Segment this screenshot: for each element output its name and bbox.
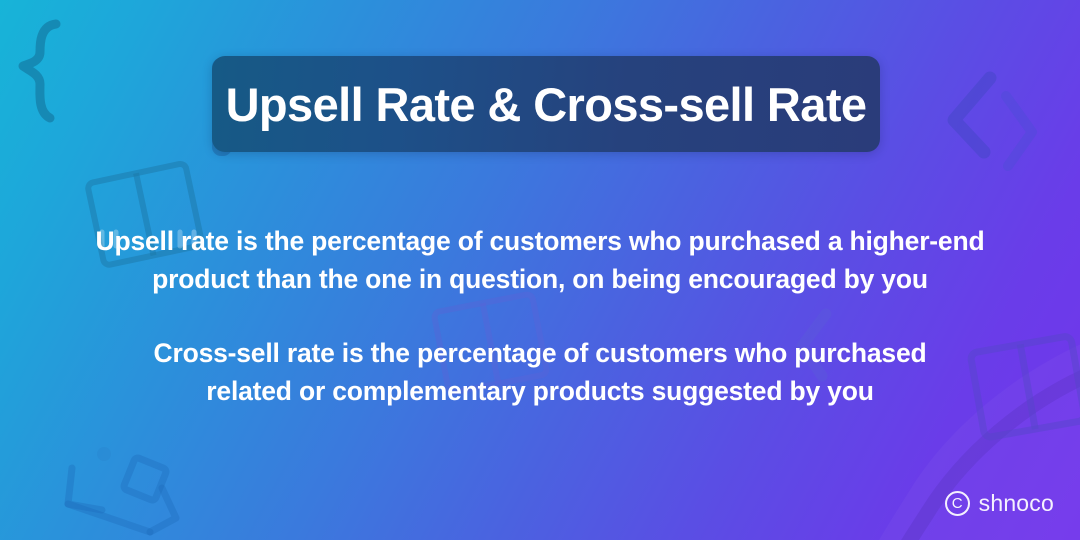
angle-bracket-shape bbox=[928, 68, 1028, 178]
brand-wordmark: shnoco bbox=[979, 492, 1054, 515]
paragraph-upsell-definition: Upsell rate is the percentage of custome… bbox=[52, 222, 1028, 298]
title-banner: Upsell Rate & Cross-sell Rate bbox=[212, 56, 880, 152]
paragraph-crosssell-definition: Cross-sell rate is the percentage of cus… bbox=[52, 334, 1028, 410]
curly-brace-shape bbox=[10, 18, 80, 128]
page-title: Upsell Rate & Cross-sell Rate bbox=[226, 81, 867, 128]
copyright-c-glyph: C bbox=[952, 496, 963, 511]
slide-canvas: Upsell Rate & Cross-sell Rate Upsell rat… bbox=[0, 0, 1080, 540]
arrow-diagram-shape bbox=[58, 448, 218, 540]
brand-logo: C shnoco bbox=[945, 491, 1054, 516]
copyright-c-icon: C bbox=[945, 491, 970, 516]
chevron-shape bbox=[986, 84, 1076, 194]
body-content: Upsell rate is the percentage of custome… bbox=[0, 222, 1080, 410]
